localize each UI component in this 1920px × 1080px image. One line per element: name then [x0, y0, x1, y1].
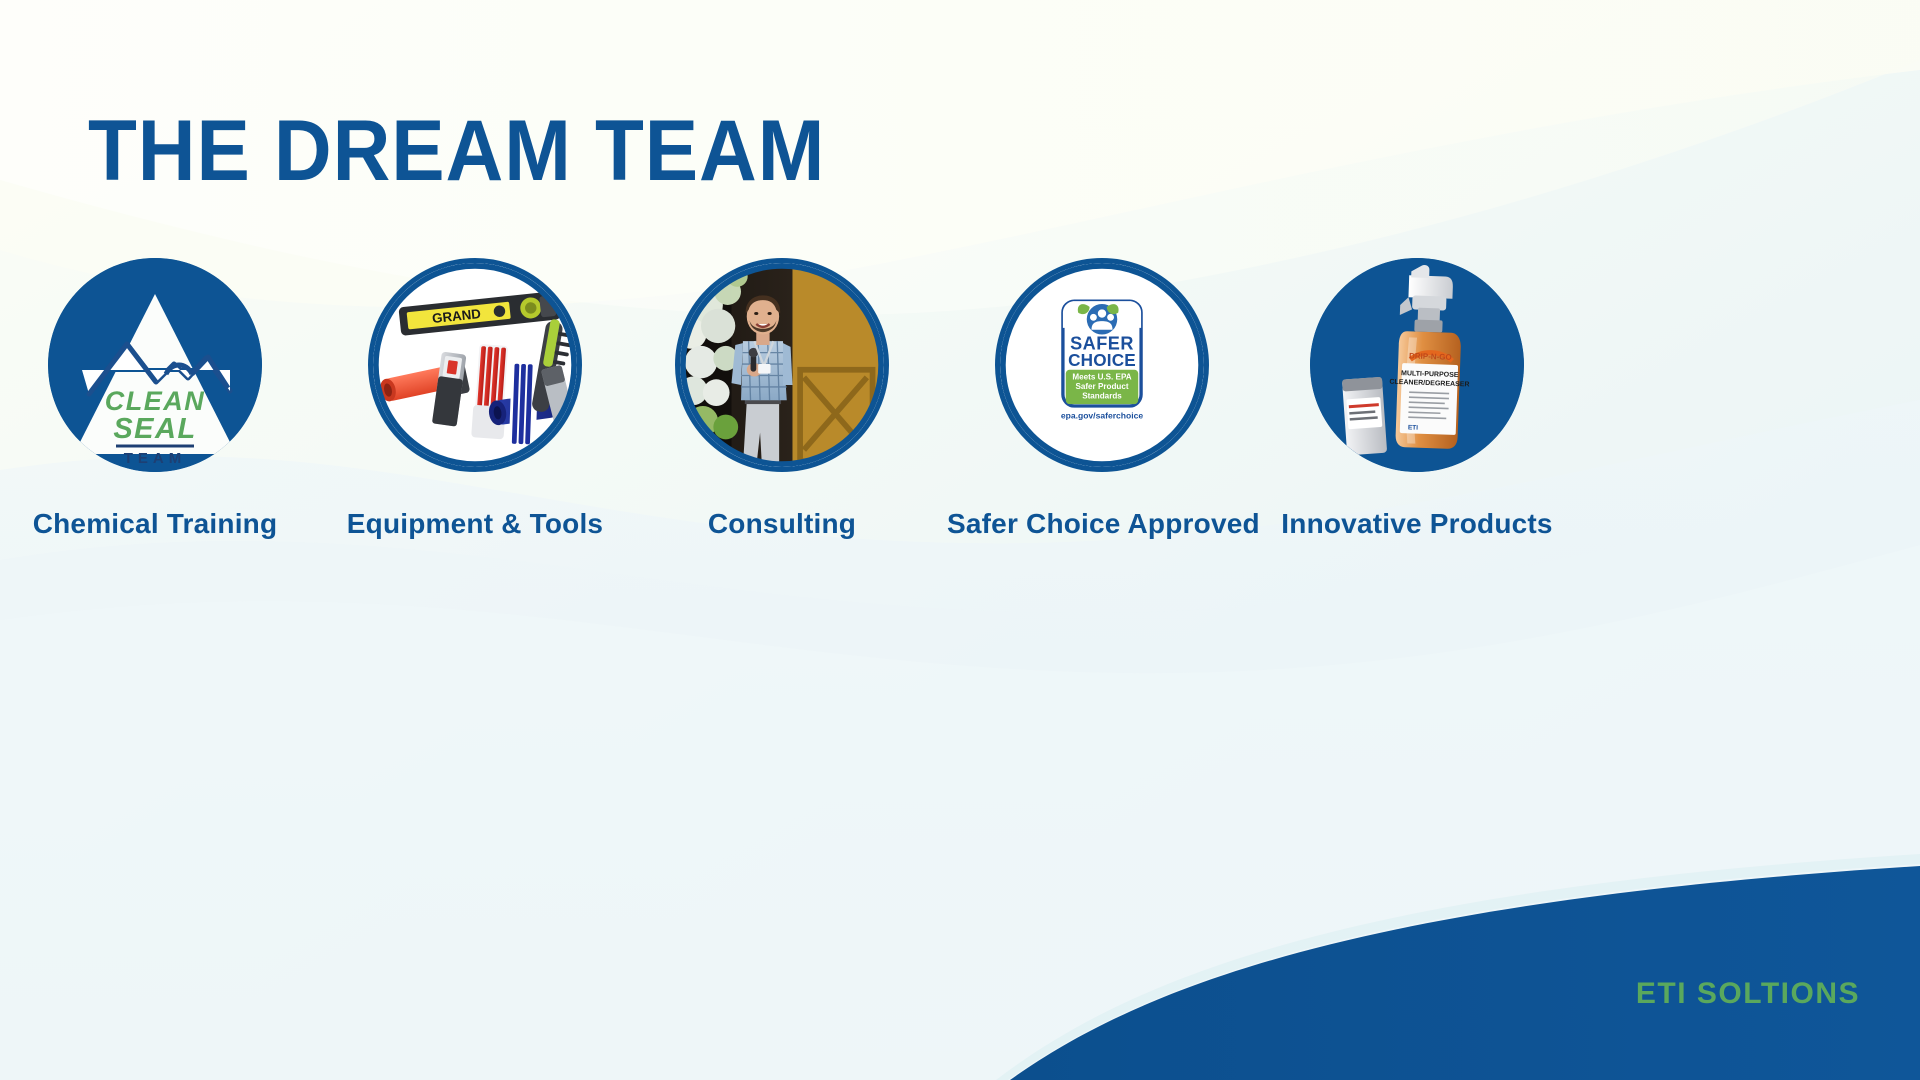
logo-line1: CLEAN [105, 386, 206, 416]
circle-wrap: CLEAN SEAL TEAM [48, 258, 262, 472]
product-footer-label: ETI [1408, 424, 1419, 431]
cleaning-tools-svg: GRAND [373, 263, 577, 467]
consultant-photo-svg [680, 263, 884, 467]
badge-url: epa.gov/saferchoice [1061, 410, 1144, 420]
footer-brand: ETI SOLTIONS [1636, 977, 1860, 1011]
circle-wrap [675, 258, 889, 472]
feature-label: Chemical Training [0, 508, 310, 540]
circle-wrap: SAFER CHOICE Meets U.S. EPA Safer Produc… [995, 258, 1209, 472]
feature-item-chemical-training[interactable]: CLEAN SEAL TEAM Chemical Training [0, 258, 310, 540]
feature-item-safer-choice[interactable]: SAFER CHOICE Meets U.S. EPA Safer Produc… [947, 258, 1257, 540]
feature-item-equipment-tools[interactable]: GRAND [320, 258, 630, 540]
clean-seal-logo-svg: CLEAN SEAL TEAM [48, 258, 262, 472]
feature-item-consulting[interactable]: Consulting [627, 258, 937, 540]
badge-line3: Meets U.S. EPA [1072, 372, 1131, 381]
feature-label: Consulting [627, 508, 937, 540]
safer-choice-svg: SAFER CHOICE Meets U.S. EPA Safer Produc… [1000, 263, 1204, 467]
badge-line5: Standards [1082, 391, 1122, 400]
cleaning-tools-photo: GRAND [368, 258, 582, 472]
spray-bottle-svg: DRIP-N-GO MULTI-PURPOSE CLEANER/DEGREASE… [1310, 258, 1524, 472]
feature-label: Safer Choice Approved [947, 508, 1257, 540]
epa-safer-choice-badge: SAFER CHOICE Meets U.S. EPA Safer Produc… [995, 258, 1209, 472]
spray-bottle-product-photo: DRIP-N-GO MULTI-PURPOSE CLEANER/DEGREASE… [1310, 258, 1524, 472]
circle-wrap: DRIP-N-GO MULTI-PURPOSE CLEANER/DEGREASE… [1310, 258, 1524, 472]
circle-wrap: GRAND [368, 258, 582, 472]
badge-line4: Safer Product [1075, 382, 1128, 391]
badge-line2: CHOICE [1068, 350, 1136, 370]
product-brand-label: DRIP-N-GO [1409, 351, 1452, 361]
clean-seal-team-logo: CLEAN SEAL TEAM [48, 258, 262, 472]
slide-canvas: THE DREAM TEAM [0, 0, 1920, 1080]
page-title: THE DREAM TEAM [88, 108, 825, 194]
feature-label: Innovative Products [1262, 508, 1572, 540]
consultant-speaker-photo [675, 258, 889, 472]
logo-line3: TEAM [124, 450, 187, 467]
feature-items-row: CLEAN SEAL TEAM Chemical Training [0, 258, 1920, 558]
feature-label: Equipment & Tools [320, 508, 630, 540]
feature-item-innovative-products[interactable]: DRIP-N-GO MULTI-PURPOSE CLEANER/DEGREASE… [1262, 258, 1572, 540]
